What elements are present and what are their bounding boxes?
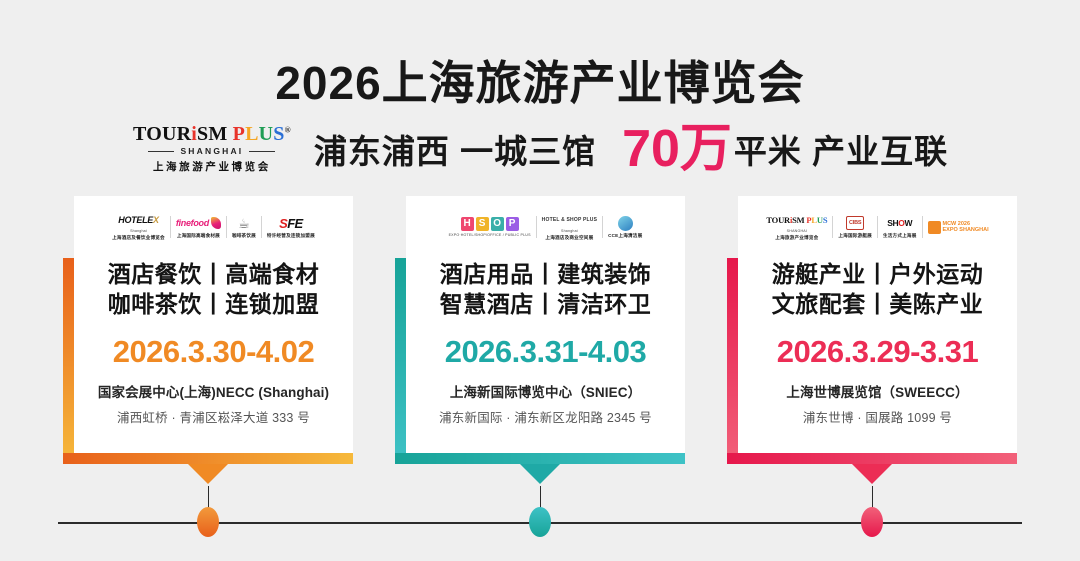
hsop-cn: EXPO·HOTEL/SHOP/OFFICE / PUBLIC PLUS xyxy=(449,233,531,237)
card-pointer-icon xyxy=(188,464,228,484)
registered-icon: ® xyxy=(285,125,291,134)
timeline-dot-sniec xyxy=(529,507,551,537)
logo-chinese-text: 上海旅游产业博览会 xyxy=(132,159,292,174)
venue-card-sniec[interactable]: HSOP EXPO·HOTEL/SHOP/OFFICE / PUBLIC PLU… xyxy=(395,196,685,464)
card-body: HSOP EXPO·HOTEL/SHOP/OFFICE / PUBLIC PLU… xyxy=(406,196,685,453)
tourism-plus-logo: TOURiSM PLUS® SHANGHAI 上海旅游产业博览会 xyxy=(132,124,292,174)
cce-cn: CCE上海清洁展 xyxy=(608,233,642,239)
cce-mark xyxy=(618,216,633,231)
hotel-shop-plus-mark: HOTEL & SHOP PLUS xyxy=(542,213,597,228)
tagline-right: 平米 产业互联 xyxy=(734,125,948,173)
card-address: 浦东新国际 · 浦东新区龙阳路 2345 号 xyxy=(439,407,652,426)
logo-sm-text: SM xyxy=(197,123,227,145)
headline-line-1: 酒店用品丨建筑装饰 xyxy=(440,260,652,290)
card-left-bar xyxy=(395,258,406,464)
finefood-mark: finefood xyxy=(176,216,221,231)
coffee-tea-cn: 咖啡茶饮展 xyxy=(232,233,256,239)
cce-logo: CCE上海清洁展 xyxy=(603,211,647,243)
coffee-cup-icon: ☕ xyxy=(238,216,250,231)
card-bottom-bar xyxy=(727,453,1017,464)
hotelex-sub: Shanghai xyxy=(130,229,147,233)
card-logo-strip: HOTELEX Shanghai 上海酒店及餐饮业博览会 finefood 上海… xyxy=(84,210,343,244)
card-bottom-bar xyxy=(63,453,353,464)
venue-card-necc[interactable]: HOTELEX Shanghai 上海酒店及餐饮业博览会 finefood 上海… xyxy=(63,196,353,464)
sfe-mark: SFE xyxy=(279,216,303,231)
leaf-icon xyxy=(211,217,221,229)
card-logo-strip: TOURiSM PLUS SHANGHAI 上海旅游产业博览会 CIBS 上海国… xyxy=(748,210,1007,244)
cibs-cn: 上海国际游艇展 xyxy=(838,233,872,239)
timeline-dot-necc xyxy=(197,507,219,537)
logo-tour-text: TOUR xyxy=(133,123,191,145)
cibs-mark: CIBS xyxy=(846,216,864,231)
card-headline: 酒店用品丨建筑装饰 智慧酒店丨清洁环卫 xyxy=(440,260,652,320)
finefood-logo: finefood 上海国际高端食材展 xyxy=(171,211,226,243)
tourism-plus-wordmark: TOURiSM PLUS® xyxy=(132,124,292,144)
hotelex-logo: HOTELEX Shanghai 上海酒店及餐饮业博览会 xyxy=(107,211,170,243)
card-address: 浦东世博 · 国展路 1099 号 xyxy=(803,407,952,426)
card-body: HOTELEX Shanghai 上海酒店及餐饮业博览会 finefood 上海… xyxy=(74,196,353,453)
tourism-plus-logo: TOURiSM PLUS SHANGHAI 上海旅游产业博览会 xyxy=(761,211,832,243)
cibs-logo: CIBS 上海国际游艇展 xyxy=(833,211,877,243)
card-venue: 上海新国际博览中心（SNIEC） xyxy=(450,381,641,401)
mcw-expo-logo: MCW 2026EXPO SHANGHAI xyxy=(923,211,994,243)
logo-shanghai-row: SHANGHAI xyxy=(132,146,292,156)
card-venue: 上海世博展览馆（SWEECC） xyxy=(786,381,968,401)
card-address: 浦西虹桥 · 青浦区崧泽大道 333 号 xyxy=(117,407,310,426)
lifestyle-show-logo: SHOW 生活方式上海展 xyxy=(878,211,922,243)
card-pointer-icon xyxy=(520,464,560,484)
hsp-sub: Shanghai xyxy=(561,229,578,233)
card-left-bar xyxy=(63,258,74,464)
cce-circle-icon xyxy=(618,216,633,231)
tp-cn: 上海旅游产业博览会 xyxy=(775,235,818,241)
lifestyle-mark: SHOW xyxy=(887,216,912,231)
card-body: TOURiSM PLUS SHANGHAI 上海旅游产业博览会 CIBS 上海国… xyxy=(738,196,1017,453)
area-number: 70万 xyxy=(622,123,732,175)
card-date: 2026.3.30-4.02 xyxy=(113,334,315,370)
card-venue: 国家会展中心(上海)NECC (Shanghai) xyxy=(98,381,329,401)
headline-line-1: 游艇产业丨户外运动 xyxy=(772,260,984,290)
hsp-cn: 上海酒店及商业空间展 xyxy=(545,235,593,241)
sfe-cn: 特许经营及连锁加盟展 xyxy=(267,233,315,239)
page-title: 2026上海旅游产业博览会 xyxy=(0,47,1080,113)
finefood-cn: 上海国际高端食材展 xyxy=(177,233,220,239)
cibs-word: CIBS xyxy=(849,220,861,226)
tagline-left: 浦东浦西 一城三馆 xyxy=(314,125,596,173)
timeline-dot-sweecc xyxy=(861,507,883,537)
venue-cards: HOTELEX Shanghai 上海酒店及餐饮业博览会 finefood 上海… xyxy=(0,196,1080,466)
lifestyle-cn: 生活方式上海展 xyxy=(883,233,917,239)
hsp-word: HOTEL & SHOP PLUS xyxy=(542,217,597,223)
tp-sub: SHANGHAI xyxy=(787,229,807,233)
card-logo-strip: HSOP EXPO·HOTEL/SHOP/OFFICE / PUBLIC PLU… xyxy=(416,210,675,244)
coffee-tea-logo: ☕ 咖啡茶饮展 xyxy=(227,211,261,243)
card-headline: 游艇产业丨户外运动 文旅配套丨美陈产业 xyxy=(772,260,984,320)
card-pointer-icon xyxy=(852,464,892,484)
tagline-row: TOURiSM PLUS® SHANGHAI 上海旅游产业博览会 浦东浦西 一城… xyxy=(0,118,1080,180)
hsop-logo: HSOP EXPO·HOTEL/SHOP/OFFICE / PUBLIC PLU… xyxy=(444,211,536,243)
hotelex-cn: 上海酒店及餐饮业博览会 xyxy=(112,235,165,241)
rule-right xyxy=(249,151,275,152)
card-bottom-bar xyxy=(395,453,685,464)
hotel-shop-plus-logo: HOTEL & SHOP PLUS Shanghai 上海酒店及商业空间展 xyxy=(537,211,602,243)
headline-line-1: 酒店餐饮丨高端食材 xyxy=(108,260,320,290)
tourism-plus-mark: TOURiSM PLUS xyxy=(766,213,827,228)
card-date: 2026.3.31-4.03 xyxy=(445,334,647,370)
mcw-square-icon xyxy=(928,221,941,234)
card-date: 2026.3.29-3.31 xyxy=(777,334,979,370)
card-headline: 酒店餐饮丨高端食材 咖啡茶饮丨连锁加盟 xyxy=(108,260,320,320)
mcw-mark: MCW 2026EXPO SHANGHAI xyxy=(928,220,989,235)
hotelex-mark: HOTELEX xyxy=(118,213,158,228)
headline-line-2: 文旅配套丨美陈产业 xyxy=(772,290,984,320)
sfe-logo: SFE 特许经营及连锁加盟展 xyxy=(262,211,320,243)
card-left-bar xyxy=(727,258,738,464)
logo-shanghai-text: SHANGHAI xyxy=(180,146,243,156)
headline-line-2: 咖啡茶饮丨连锁加盟 xyxy=(108,290,320,320)
rule-left xyxy=(148,151,174,152)
hsop-mark: HSOP xyxy=(461,217,519,232)
venue-card-sweecc[interactable]: TOURiSM PLUS SHANGHAI 上海旅游产业博览会 CIBS 上海国… xyxy=(727,196,1017,464)
poster-canvas: 2026上海旅游产业博览会 TOURiSM PLUS® SHANGHAI 上海旅… xyxy=(0,0,1080,561)
headline-line-2: 智慧酒店丨清洁环卫 xyxy=(440,290,652,320)
